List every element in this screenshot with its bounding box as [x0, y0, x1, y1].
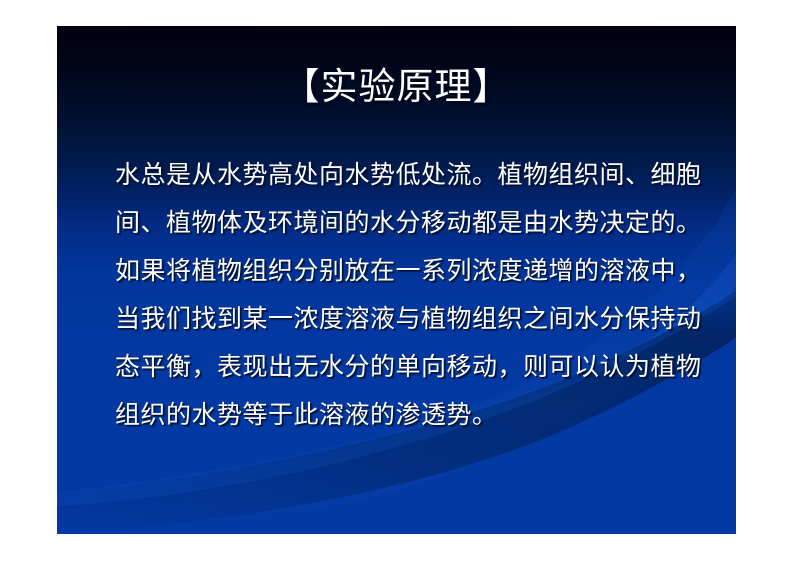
body-line: 态平衡，表现出无水分的单向移动，则可以认为植物: [115, 343, 695, 391]
body-line: 组织的水势等于此溶液的渗透势。: [115, 391, 695, 439]
presentation-slide: 【实验原理】 水总是从水势高处向水势低处流。植物组织间、细胞 间、植物体及环境间…: [57, 26, 736, 534]
page-title: 【实验原理】: [283, 64, 511, 110]
slide-canvas: 【实验原理】 水总是从水势高处向水势低处流。植物组织间、细胞 间、植物体及环境间…: [0, 0, 793, 561]
slide-body-text: 水总是从水势高处向水势低处流。植物组织间、细胞 间、植物体及环境间的水分移动都是…: [115, 151, 695, 439]
body-line: 当我们找到某一浓度溶液与植物组织之间水分保持动: [115, 295, 695, 343]
slide-title-block: 【实验原理】: [57, 64, 736, 110]
body-line: 间、植物体及环境间的水分移动都是由水势决定的。: [115, 199, 695, 247]
body-line: 如果将植物组织分别放在一系列浓度递增的溶液中，: [115, 247, 695, 295]
body-line: 水总是从水势高处向水势低处流。植物组织间、细胞: [115, 151, 695, 199]
